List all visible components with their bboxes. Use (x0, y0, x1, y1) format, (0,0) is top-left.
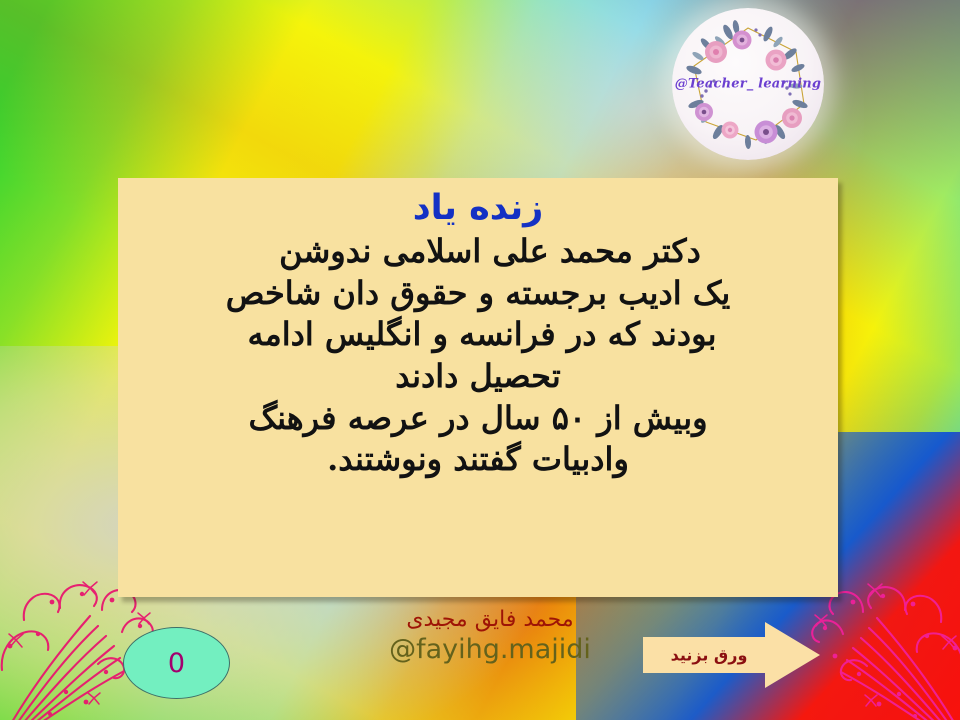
logo-watermark: @Teacher_ learning (672, 8, 824, 160)
content-card: زنده یاد دکتر محمد علی اسلامی ندوشن یک ا… (118, 178, 838, 597)
next-page-button[interactable]: ورق بزنید (643, 621, 821, 689)
card-body-line: یک ادیب برجسته و حقوق دان شاخص (136, 273, 820, 315)
logo-text: @Teacher_ learning (672, 77, 824, 92)
slide-stage: @Teacher_ learning زنده یاد دکتر محمد عل… (0, 0, 960, 720)
page-number-badge: 0 (123, 627, 230, 699)
card-body-line: وبیش از ۵۰ سال در عرصه فرهنگ (136, 398, 820, 440)
card-body-line: تحصیل دادند (136, 356, 820, 398)
card-body-line: وادبیات گفتند ونوشتند. (136, 439, 820, 481)
signature-name: محمد فایق مجیدی (360, 608, 620, 633)
card-body-line: دکتر محمد علی اسلامی ندوشن (136, 231, 820, 273)
signature-block: محمد فایق مجیدی @fayihg.majidi (360, 608, 620, 665)
signature-handle: @fayihg.majidi (360, 634, 620, 665)
page-number-value: 0 (168, 650, 185, 677)
card-title: زنده یاد (413, 188, 544, 229)
card-body: دکتر محمد علی اسلامی ندوشن یک ادیب برجست… (136, 231, 820, 481)
next-page-label: ورق بزنید (657, 646, 761, 665)
card-body-line: بودند که در فرانسه و انگلیس ادامه (136, 314, 820, 356)
